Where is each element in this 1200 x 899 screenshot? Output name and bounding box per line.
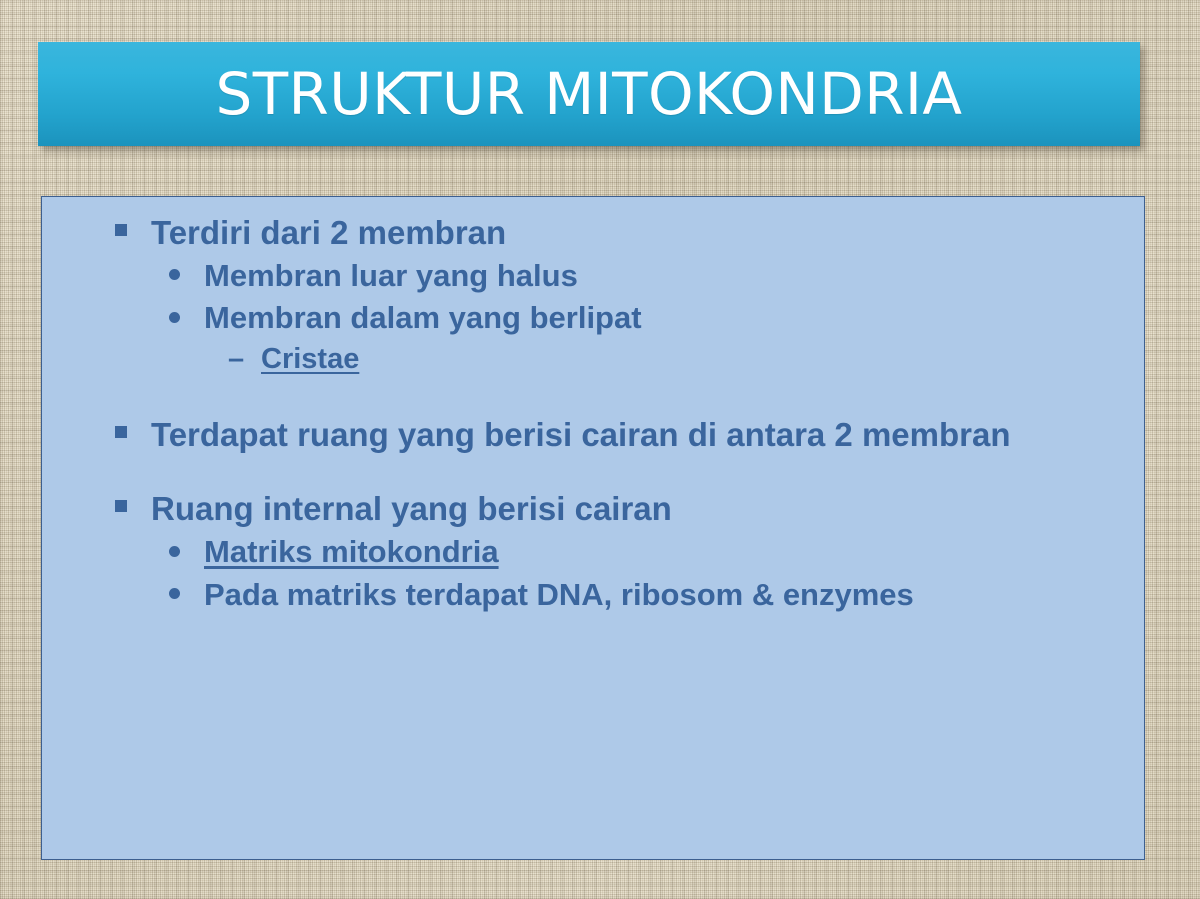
- dash-bullet-icon: –: [228, 340, 252, 379]
- list-item-label: Membran dalam yang berlipat: [169, 297, 1146, 339]
- list-item-label: Pada matriks terdapat DNA, ribosom & enz…: [169, 574, 1146, 616]
- round-bullet-icon: [169, 588, 180, 599]
- list-item: Matriks mitokondria: [42, 531, 1146, 573]
- list-item: Membran luar yang halus: [42, 255, 1146, 297]
- list-item-label: Terdapat ruang yang berisi cairan di ant…: [115, 413, 1146, 457]
- list-item: Pada matriks terdapat DNA, ribosom & enz…: [42, 574, 1146, 616]
- slide-title-bar: STRUKTUR MITOKONDRIA: [38, 42, 1140, 146]
- list-item: Terdiri dari 2 membran: [42, 211, 1146, 255]
- round-bullet-icon: [169, 546, 180, 557]
- square-bullet-icon: [115, 500, 127, 512]
- list-item: Ruang internal yang berisi cairan: [42, 487, 1146, 531]
- blank-line: [42, 379, 1146, 413]
- list-item: Membran dalam yang berlipat: [42, 297, 1146, 339]
- list-item-label: Membran luar yang halus: [169, 255, 1146, 297]
- list-item-label: Ruang internal yang berisi cairan: [115, 487, 1146, 531]
- page-title: STRUKTUR MITOKONDRIA: [215, 65, 962, 123]
- round-bullet-icon: [169, 312, 180, 323]
- list-item-label: Matriks mitokondria: [169, 531, 1146, 573]
- bullet-list-container: Terdiri dari 2 membran Membran luar yang…: [42, 211, 1146, 616]
- square-bullet-icon: [115, 426, 127, 438]
- blank-line: [42, 457, 1146, 487]
- list-item-label: Terdiri dari 2 membran: [115, 211, 1146, 255]
- slide-content-panel: Terdiri dari 2 membran Membran luar yang…: [41, 196, 1145, 860]
- square-bullet-icon: [115, 224, 127, 236]
- list-item: Terdapat ruang yang berisi cairan di ant…: [42, 413, 1146, 457]
- bullet-list: Terdiri dari 2 membran Membran luar yang…: [42, 211, 1146, 616]
- list-item: – Cristae: [42, 340, 1146, 379]
- list-item-label: Cristae: [228, 340, 1146, 379]
